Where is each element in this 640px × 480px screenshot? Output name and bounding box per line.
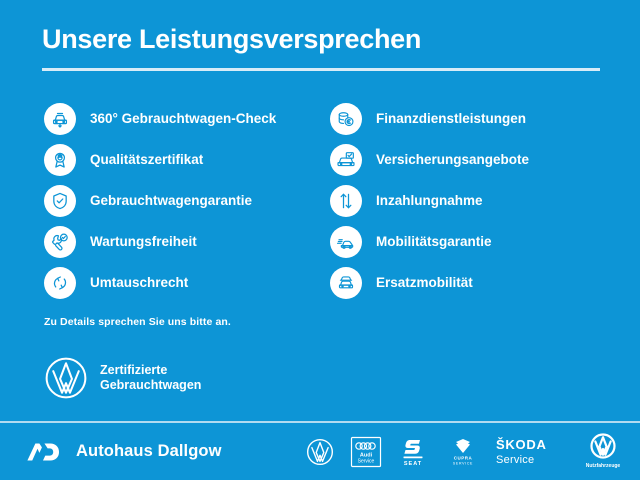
promise-item[interactable]: Wartungsfreiheit	[44, 221, 330, 262]
audi-service-icon[interactable]: Audi Service	[350, 430, 382, 474]
vw-logo-icon[interactable]	[306, 430, 334, 474]
wrench-check-icon	[44, 226, 76, 258]
coins-euro-icon	[330, 103, 362, 135]
promise-item[interactable]: 360° Gebrauchtwagen-Check	[44, 98, 330, 139]
shield-check-icon	[44, 185, 76, 217]
promise-label: Gebrauchtwagengarantie	[90, 193, 252, 209]
promise-item[interactable]: Ersatzmobilität	[330, 262, 620, 303]
promise-item[interactable]: Qualitätszertifikat	[44, 139, 330, 180]
vw-logo-icon	[44, 356, 88, 400]
car-check-360-icon	[44, 103, 76, 135]
promise-item[interactable]: Mobilitätsgarantie	[330, 221, 620, 262]
promise-column-right: Finanzdienstleistungen Versicherungsange…	[330, 98, 620, 303]
vw-certified-text: Zertifizierte Gebrauchtwagen	[100, 363, 201, 394]
svg-text:ŠKODA: ŠKODA	[496, 437, 547, 452]
dealer-name: Autohaus Dallgow	[76, 442, 222, 461]
promise-label: Ersatzmobilität	[376, 275, 473, 291]
header: Unsere Leistungsversprechen	[42, 22, 602, 71]
ad-monogram-icon	[26, 441, 64, 463]
promise-item[interactable]: Versicherungsangebote	[330, 139, 620, 180]
promise-label: Wartungsfreiheit	[90, 234, 197, 250]
promise-label: Umtauschrecht	[90, 275, 188, 291]
promise-list: 360° Gebrauchtwagen-Check Qualitätszerti…	[0, 98, 640, 303]
exchange-arrows-icon	[44, 267, 76, 299]
award-rosette-icon	[44, 144, 76, 176]
svg-text:Audi: Audi	[360, 452, 373, 458]
promise-label: Finanzdienstleistungen	[376, 111, 526, 127]
vw-nutzfahrzeuge-icon[interactable]: Nutzfahrzeuge	[580, 430, 626, 474]
svg-text:SERVICE: SERVICE	[453, 461, 473, 465]
svg-text:Service: Service	[358, 458, 375, 464]
vw-certified-line2: Gebrauchtwagen	[100, 378, 201, 392]
promise-item[interactable]: Inzahlungnahme	[330, 180, 620, 221]
promise-label: Qualitätszertifikat	[90, 152, 203, 168]
skoda-service-icon[interactable]: ŠKODA Service	[494, 430, 564, 474]
seat-logo-icon[interactable]: SEAT	[398, 430, 432, 474]
promise-column-left: 360° Gebrauchtwagen-Check Qualitätszerti…	[44, 98, 330, 303]
brand-logo-strip: Audi Service SEAT	[306, 430, 626, 474]
contact-note: Zu Details sprechen Sie uns bitte an.	[44, 316, 231, 328]
vw-certified-lockup: Zertifizierte Gebrauchtwagen	[44, 356, 201, 400]
promise-item[interactable]: Gebrauchtwagengarantie	[44, 180, 330, 221]
title-divider	[42, 68, 600, 71]
svg-text:Service: Service	[496, 454, 534, 466]
promise-item[interactable]: Finanzdienstleistungen	[330, 98, 620, 139]
svg-text:CUPRA: CUPRA	[454, 455, 473, 460]
promise-label: Inzahlungnahme	[376, 193, 483, 209]
promise-panel: Unsere Leistungsversprechen 360° Gebrauc…	[0, 0, 640, 480]
car-carrier-icon	[330, 267, 362, 299]
footer: Autohaus Dallgow	[0, 423, 640, 480]
car-speed-icon	[330, 226, 362, 258]
arrows-up-down-icon	[330, 185, 362, 217]
promise-label: Versicherungsangebote	[376, 152, 529, 168]
promise-label: 360° Gebrauchtwagen-Check	[90, 111, 276, 127]
car-insurance-icon	[330, 144, 362, 176]
vw-certified-line1: Zertifizierte	[100, 363, 167, 377]
promise-item[interactable]: Umtauschrecht	[44, 262, 330, 303]
promise-label: Mobilitätsgarantie	[376, 234, 492, 250]
dealer-lockup[interactable]: Autohaus Dallgow	[26, 441, 222, 463]
page-title: Unsere Leistungsversprechen	[42, 22, 602, 56]
seat-wordmark: SEAT	[404, 461, 422, 467]
cupra-service-icon[interactable]: CUPRA SERVICE	[448, 430, 478, 474]
svg-text:Nutzfahrzeuge: Nutzfahrzeuge	[586, 463, 621, 469]
